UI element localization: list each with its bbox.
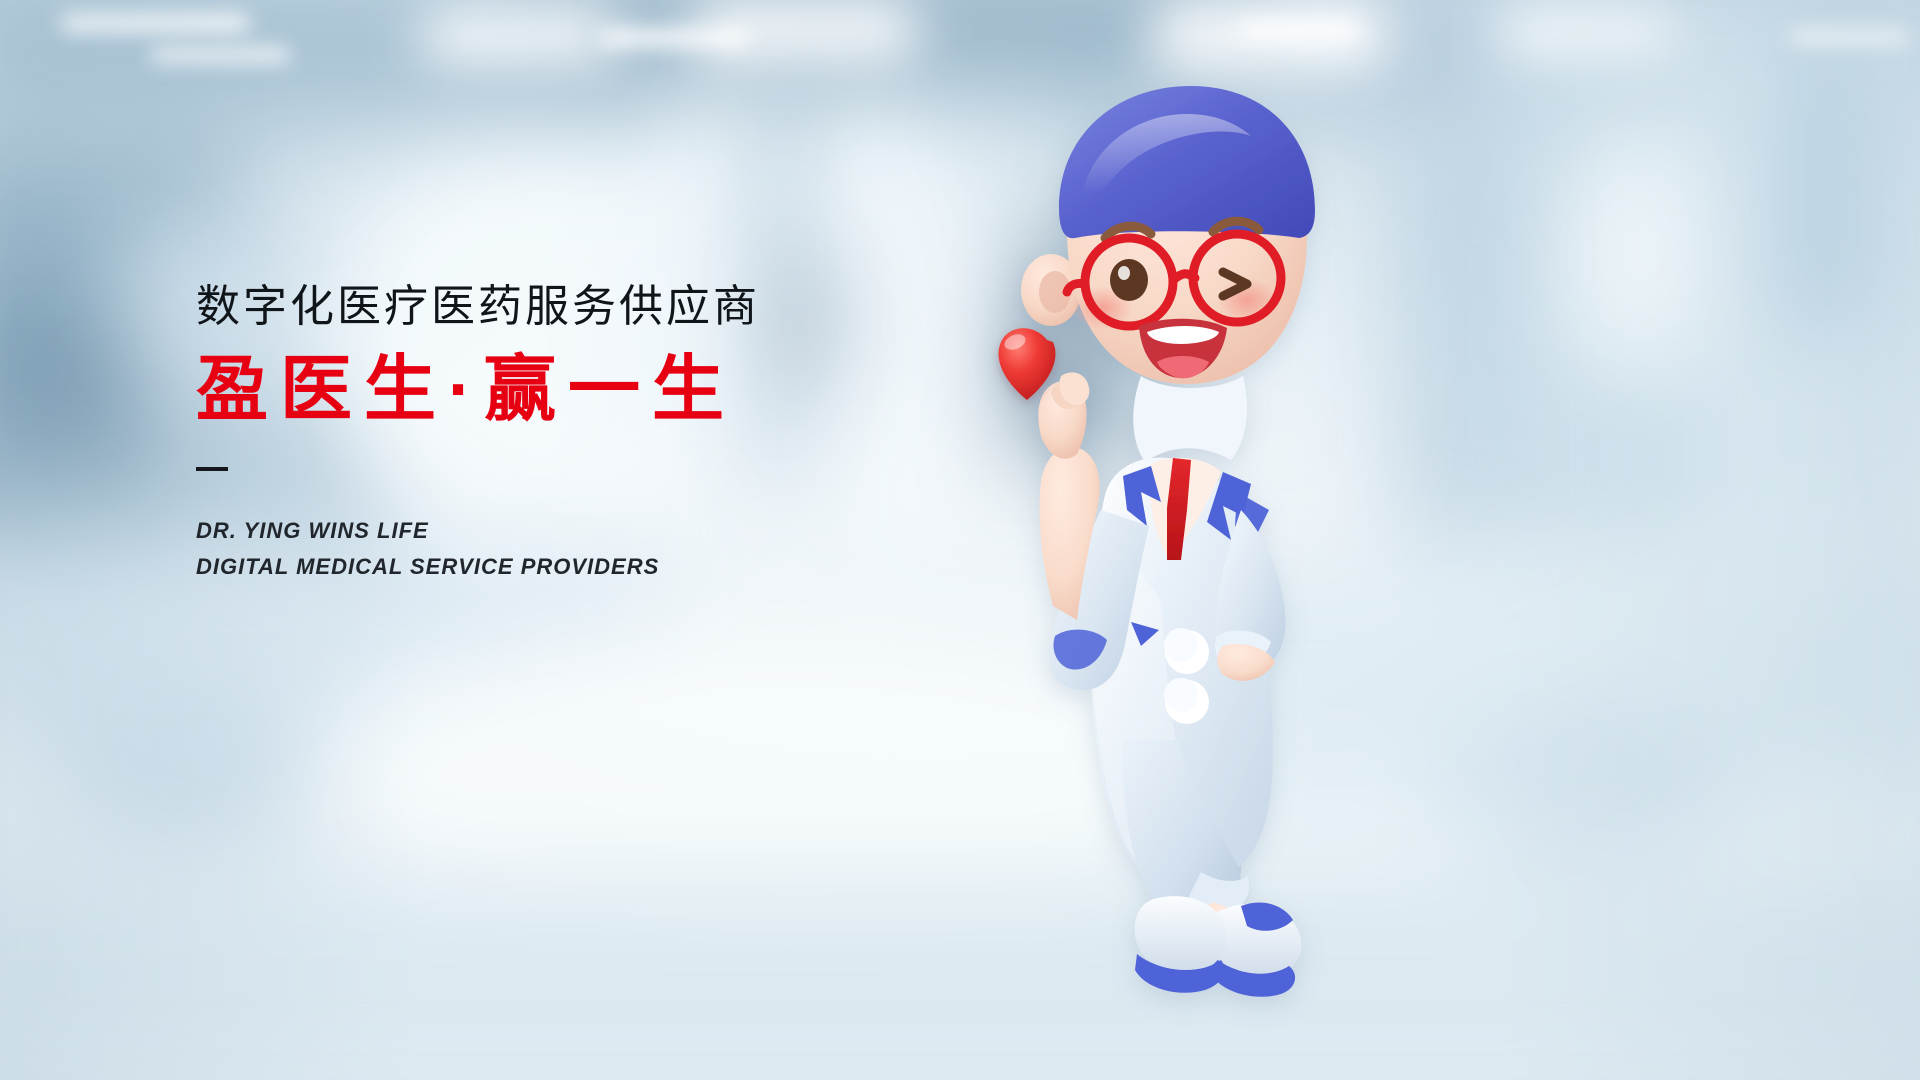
mascot-collar — [1133, 376, 1247, 462]
mascot-head — [1059, 86, 1315, 384]
slogan: 盈医生·赢一生 — [196, 353, 956, 429]
subtitle-group: DR. YING WINS LIFE DIGITAL MEDICAL SERVI… — [196, 513, 956, 584]
subtitle-line-1: DR. YING WINS LIFE — [196, 513, 956, 549]
page-title: 数字化医疗医药服务供应商 — [196, 283, 956, 331]
mascot-shoe-back — [1135, 896, 1227, 993]
divider — [196, 467, 228, 471]
doctor-mascot — [955, 40, 1375, 1050]
hero-banner: 数字化医疗医药服务供应商 盈医生·赢一生 DR. YING WINS LIFE … — [0, 0, 1920, 1080]
eye-open — [1110, 259, 1148, 301]
copy-block: 数字化医疗医药服务供应商 盈医生·赢一生 DR. YING WINS LIFE … — [196, 283, 956, 584]
subtitle-line-2: DIGITAL MEDICAL SERVICE PROVIDERS — [196, 549, 956, 585]
